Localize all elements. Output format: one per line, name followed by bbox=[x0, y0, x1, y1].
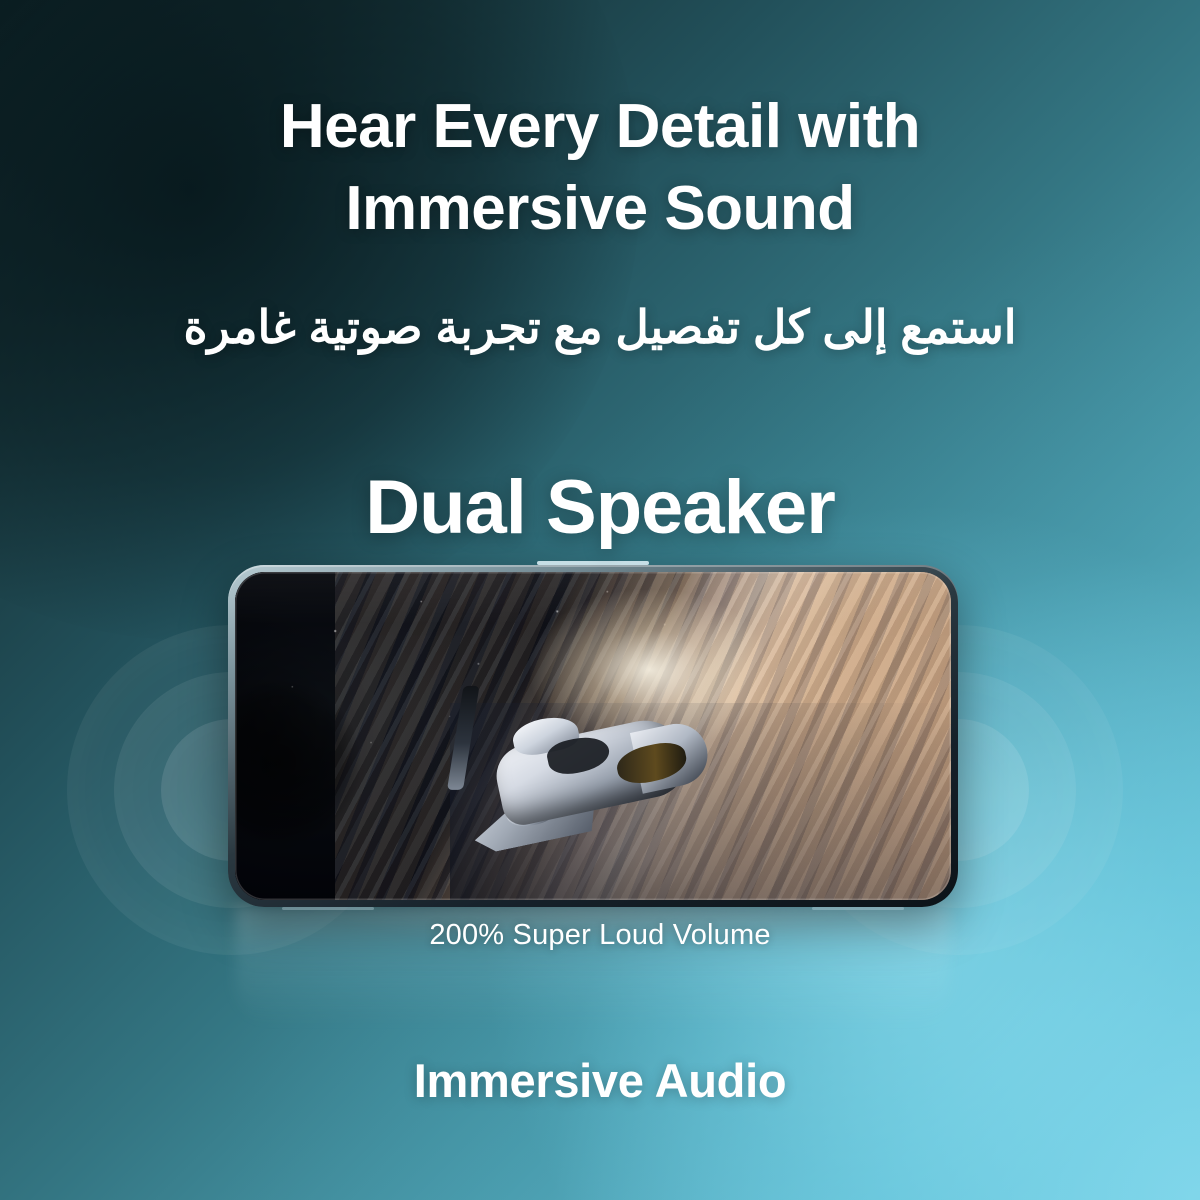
promo-banner: Hear Every Detail with Immersive Sound ا… bbox=[0, 0, 1200, 1200]
footer-label: Immersive Audio bbox=[0, 1053, 1200, 1108]
headline: Hear Every Detail with Immersive Sound bbox=[0, 86, 1200, 250]
screen-vignette bbox=[235, 572, 951, 900]
bottom-speaker-right-icon bbox=[812, 907, 904, 910]
phone-device bbox=[228, 565, 958, 907]
subtitle-arabic: استمع إلى كل تفصيل مع تجربة صوتية غامرة bbox=[0, 296, 1200, 358]
volume-caption: 200% Super Loud Volume bbox=[0, 919, 1200, 952]
earpiece-speaker-icon bbox=[537, 561, 649, 565]
bottom-speaker-left-icon bbox=[282, 907, 374, 910]
product-title: Dual Speaker bbox=[0, 470, 1200, 546]
phone-screen bbox=[235, 572, 951, 900]
headline-line-1: Hear Every Detail with bbox=[280, 92, 920, 161]
headline-line-2: Immersive Sound bbox=[70, 168, 1130, 250]
